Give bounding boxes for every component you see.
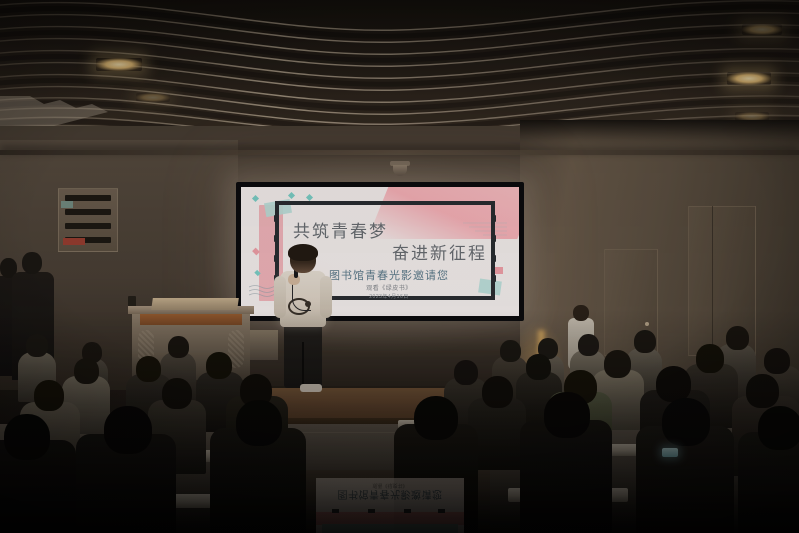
audience-c3-head — [656, 366, 691, 402]
presenter-arm-right — [320, 276, 332, 318]
audience-a1-head — [500, 340, 521, 362]
audience-b5-head — [764, 348, 790, 374]
ceiling-wall-junction — [0, 150, 799, 155]
audience-d7-head — [758, 406, 799, 450]
audience-c6-head — [162, 378, 192, 409]
audience-c7-head — [34, 380, 64, 411]
slide-dot-1 — [252, 195, 259, 202]
phone-screen-glow — [662, 448, 678, 457]
lectern-wood-band — [140, 314, 242, 325]
audience-d3-head — [662, 398, 710, 446]
auditorium-photo: 共筑青春梦 奋进新征程 图书馆青春光影邀请您 观看《绿皮书》 2023年4月16… — [0, 0, 799, 533]
audience-c1-head — [482, 376, 513, 408]
audience-c4-head — [746, 374, 779, 408]
door-knob-icon[interactable] — [645, 322, 649, 326]
presenter-leg-split — [302, 342, 304, 388]
presenter-shoe — [300, 384, 322, 392]
right-wall-shadow — [520, 120, 799, 146]
audience-a8-head — [168, 336, 189, 358]
audience-b1-head — [454, 360, 478, 385]
reflection-desk-surface — [300, 470, 490, 533]
door-seam — [712, 206, 713, 354]
audience-b7-head — [136, 356, 161, 382]
slide-dot-3 — [306, 194, 313, 201]
audience-b4-head — [696, 344, 724, 373]
audience-a5-head — [726, 326, 749, 350]
slide-title-line2: 奋进新征程 — [392, 239, 487, 264]
standing-person-1-head — [22, 252, 42, 274]
ceiling-light-3 — [727, 72, 771, 85]
audience-b8-head — [206, 352, 232, 379]
presenter-hair — [288, 244, 318, 261]
slide-title-line1: 共筑青春梦 — [293, 217, 388, 242]
panel-warning-label — [63, 238, 85, 245]
audience-d4-head — [236, 400, 282, 446]
panel-sticker — [61, 201, 73, 208]
audience-a3-head — [578, 334, 599, 356]
audience-a6-head — [26, 334, 48, 357]
ceiling-light-2 — [136, 93, 170, 102]
audience-b3-head — [604, 350, 631, 378]
lectern-slanted-surface — [151, 298, 239, 310]
presenter — [272, 246, 334, 394]
ceiling-light-1 — [96, 58, 142, 71]
audience-d2-head — [544, 392, 590, 438]
audience-a4-head — [634, 330, 656, 353]
standing-person-3-head — [573, 305, 589, 321]
audience-b6-head — [74, 358, 99, 384]
audience-b2-head — [526, 354, 551, 380]
audience-d6-head — [4, 414, 50, 460]
audience-d1-head — [414, 396, 458, 440]
wall-electrical-panel — [58, 188, 118, 252]
audience-d5-head — [104, 406, 152, 454]
presenter-arm-left — [274, 276, 286, 318]
ceiling-light-4 — [742, 24, 782, 35]
